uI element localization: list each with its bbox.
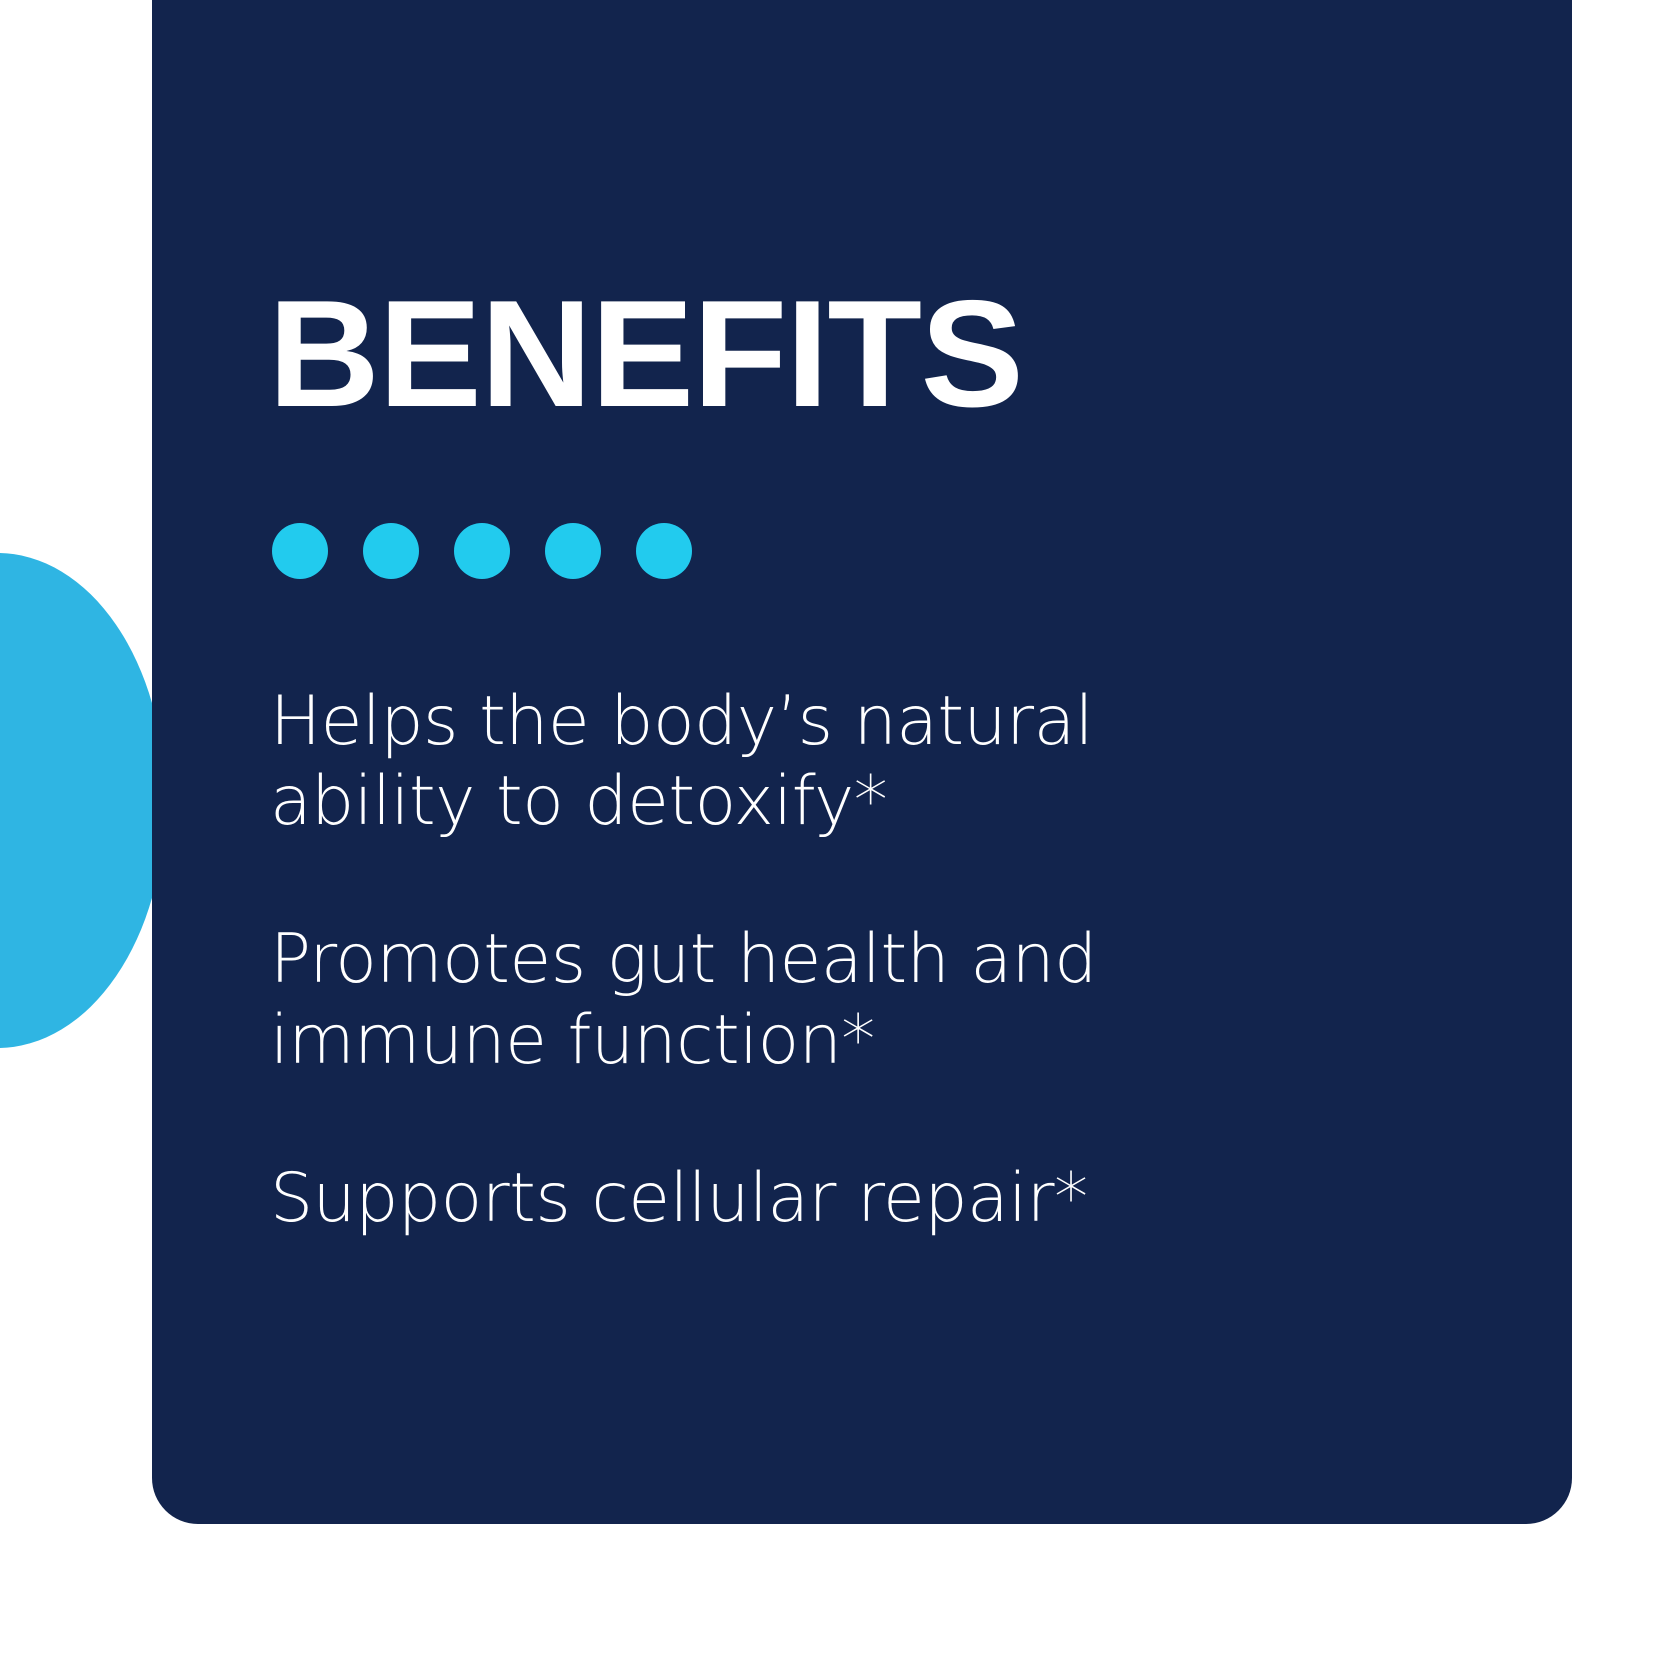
dot-icon bbox=[363, 523, 419, 579]
dot-icon bbox=[454, 523, 510, 579]
page-title: BENEFITS bbox=[268, 278, 1022, 430]
benefits-card: BENEFITS Helps the body’s natural abilit… bbox=[152, 0, 1572, 1524]
benefits-panel: BENEFITS Helps the body’s natural abilit… bbox=[0, 0, 1680, 1680]
dot-icon bbox=[636, 523, 692, 579]
benefit-item: Helps the body’s natural ability to deto… bbox=[270, 682, 1260, 842]
dot-icon bbox=[272, 523, 328, 579]
cyan-blob-decoration bbox=[0, 553, 165, 1048]
benefit-item: Promotes gut health and immune function* bbox=[270, 920, 1260, 1080]
dot-divider bbox=[272, 523, 692, 579]
benefits-card-content: BENEFITS Helps the body’s natural abilit… bbox=[268, 0, 1512, 1524]
dot-icon bbox=[545, 523, 601, 579]
benefits-list: Helps the body’s natural ability to deto… bbox=[270, 682, 1260, 1239]
benefit-item: Supports cellular repair* bbox=[270, 1159, 1260, 1239]
